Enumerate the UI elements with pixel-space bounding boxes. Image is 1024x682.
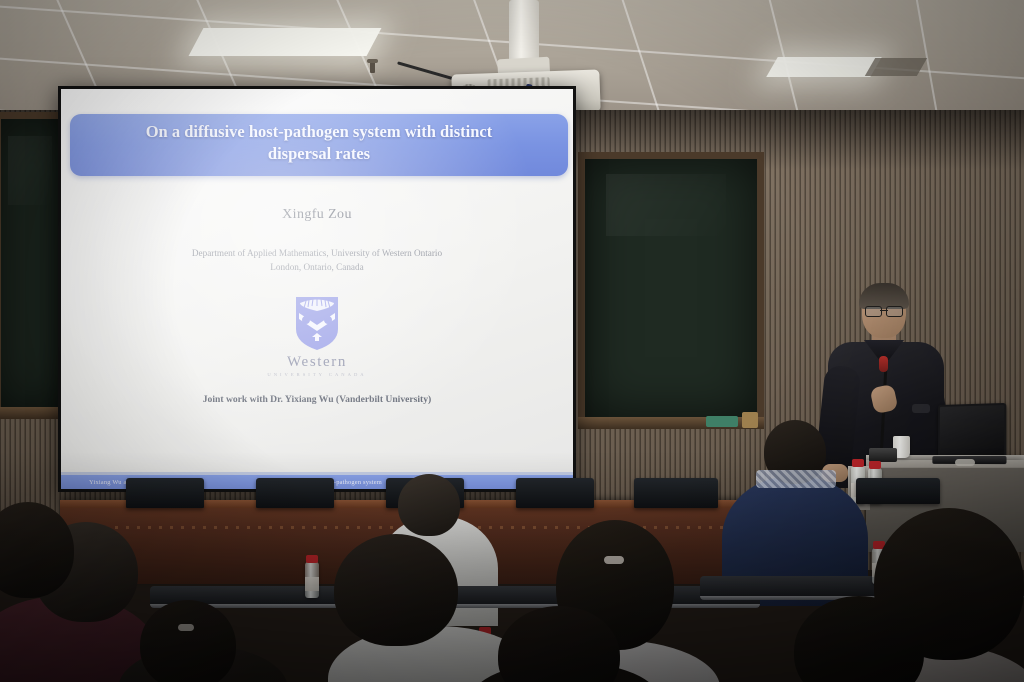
hair-tie [604, 556, 624, 564]
chair[interactable] [634, 478, 718, 508]
slide-title-line1: On a diffusive host-pathogen system with… [84, 121, 554, 143]
hair-clip [178, 624, 194, 631]
affiliation-line2: London, Ontario, Canada [61, 261, 573, 275]
board-glint [8, 136, 51, 205]
chalk-ledge-right [578, 417, 764, 429]
western-logo-subtitle: UNIVERSITY CANADA [61, 372, 573, 377]
western-shield-icon [294, 295, 340, 351]
water-bottle [305, 562, 319, 598]
chair[interactable] [516, 478, 594, 508]
western-wordmark: Western [61, 354, 573, 371]
slide-author: Xingfu Zou [61, 207, 573, 223]
chalk-box[interactable] [742, 412, 758, 428]
chair[interactable] [256, 478, 334, 508]
projection-screen: On a diffusive host-pathogen system with… [58, 86, 576, 492]
audience-member-head [140, 600, 236, 682]
western-logo: Western UNIVERSITY CANADA [61, 295, 573, 377]
presenter-wristwatch [912, 404, 930, 413]
presenter-remote[interactable] [869, 448, 897, 462]
handheld-microphone[interactable] [879, 356, 888, 372]
presentation-slide: On a diffusive host-pathogen system with… [61, 89, 573, 489]
chalkboard-right [578, 152, 764, 424]
audience-member-collar [756, 470, 836, 488]
audience-member-head [398, 474, 460, 536]
computer-mouse[interactable] [955, 459, 975, 466]
chair[interactable] [126, 478, 204, 508]
ceiling-vent [865, 58, 927, 76]
board-glint [606, 174, 726, 236]
slide-title-line2: dispersal rates [84, 143, 554, 165]
chair[interactable] [856, 478, 940, 504]
affiliation-line1: Department of Applied Mathematics, Unive… [61, 247, 573, 261]
presenter-glasses-icon [865, 306, 903, 315]
ceiling-light-panel-left [189, 28, 382, 56]
audience-member-head [334, 534, 458, 646]
slide-title-banner: On a diffusive host-pathogen system with… [70, 114, 568, 176]
slide-joint-work: Joint work with Dr. Yixiang Wu (Vanderbi… [61, 394, 573, 405]
chalkboard-eraser[interactable] [706, 416, 738, 427]
slide-affiliation: Department of Applied Mathematics, Unive… [61, 247, 573, 275]
lecture-hall-photo: On a diffusive host-pathogen system with… [0, 0, 1024, 682]
sprinkler-head-icon [370, 62, 375, 73]
